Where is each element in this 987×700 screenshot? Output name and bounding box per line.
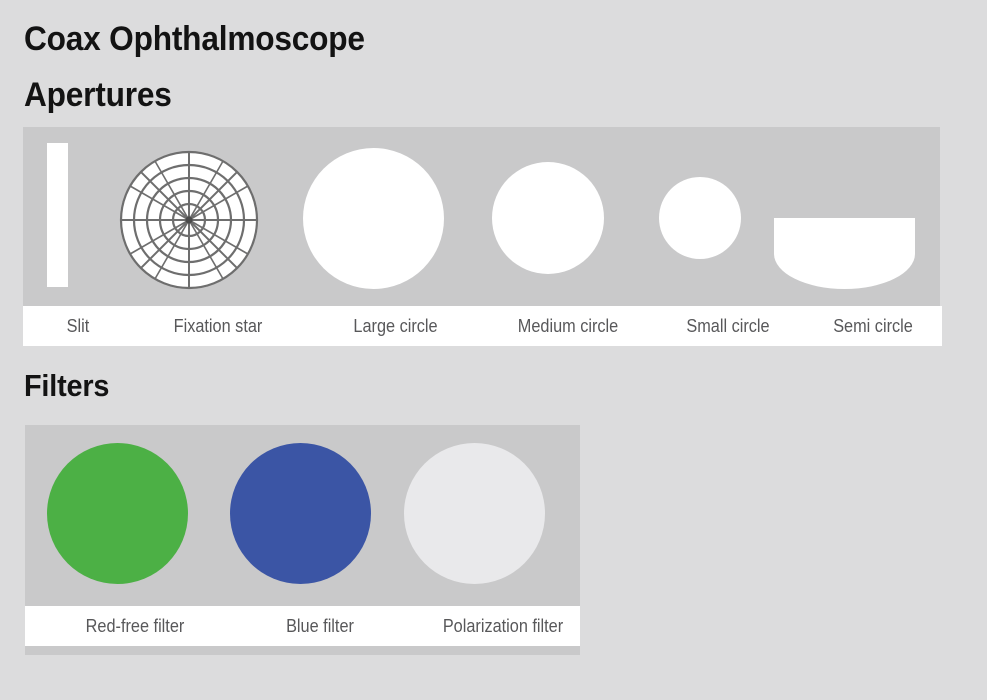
page-title-line-1: Coax Ophthalmoscope: [24, 20, 365, 58]
semi-circle-icon: [774, 218, 915, 289]
fixation-star-icon: [119, 150, 259, 290]
filters-label-strip: Red-free filter Blue filter Polarization…: [25, 606, 580, 646]
aperture-label-fixation-star: Fixation star: [143, 315, 293, 337]
fixation-star-svg: [119, 150, 259, 290]
slit-icon: [47, 143, 68, 287]
apertures-label-strip: Slit Fixation star Large circle Medium c…: [23, 306, 942, 346]
filter-label-polarization: Polarization filter: [397, 615, 608, 637]
aperture-label-small-circle: Small circle: [658, 315, 799, 337]
aperture-label-slit: Slit: [30, 315, 127, 337]
filters-heading: Filters: [24, 368, 109, 404]
aperture-label-semi-circle: Semi circle: [807, 315, 939, 337]
large-circle-icon: [303, 148, 444, 289]
page-title-line-2: Apertures: [24, 76, 172, 114]
small-circle-icon: [659, 177, 741, 259]
blue-filter-icon: [230, 443, 371, 584]
polarization-filter-icon: [404, 443, 545, 584]
filter-label-red-free: Red-free filter: [47, 615, 223, 637]
medium-circle-icon: [492, 162, 604, 274]
aperture-label-medium-circle: Medium circle: [489, 315, 647, 337]
apertures-panel: [23, 127, 940, 307]
filter-label-blue: Blue filter: [250, 615, 391, 637]
green-filter-icon: [47, 443, 188, 584]
aperture-label-large-circle: Large circle: [319, 315, 473, 337]
